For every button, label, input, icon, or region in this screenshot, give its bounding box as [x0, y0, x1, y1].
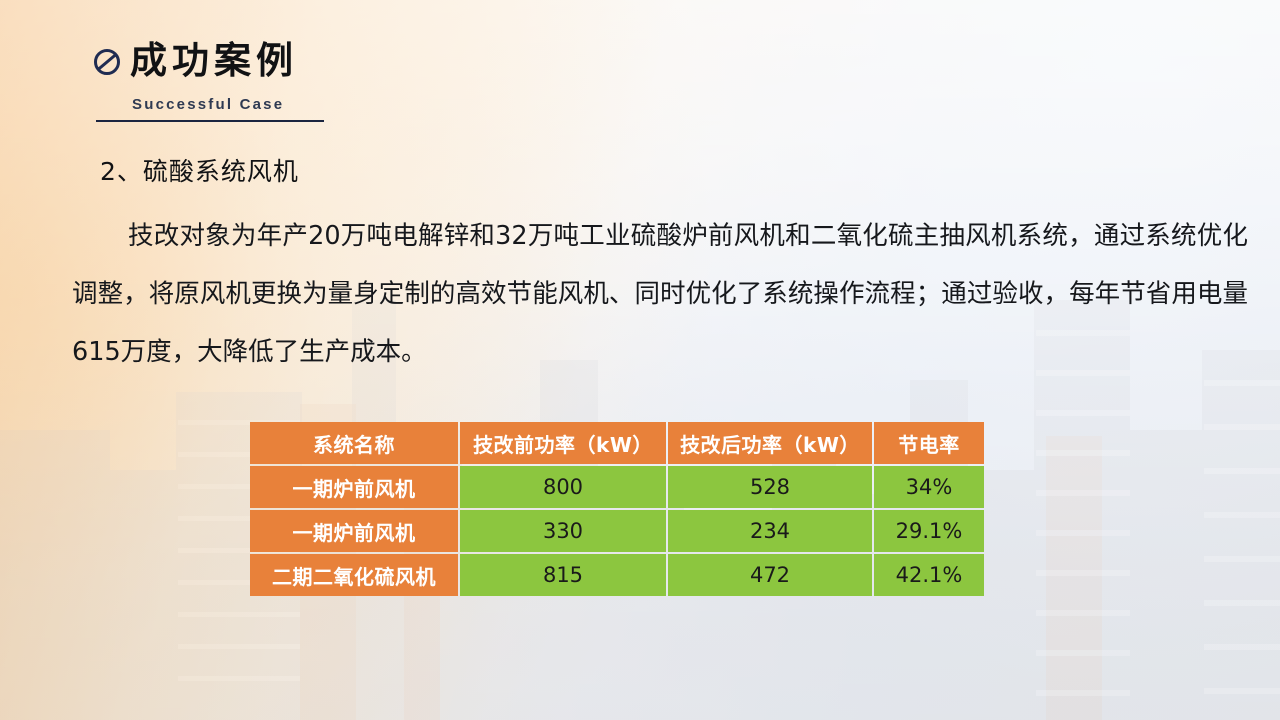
title-divider: [96, 120, 324, 122]
table-body: 一期炉前风机 800 528 34% 一期炉前风机 330 234 29.1% …: [250, 466, 984, 596]
cell-saving-rate: 42.1%: [874, 554, 984, 596]
page-subtitle: Successful Case: [132, 96, 512, 113]
column-header-system-name: 系统名称: [250, 422, 458, 464]
column-header-saving-rate: 节电率: [874, 422, 984, 464]
results-table: 系统名称 技改前功率（kW） 技改后功率（kW） 节电率 一期炉前风机 800 …: [248, 420, 986, 598]
table-header-row: 系统名称 技改前功率（kW） 技改后功率（kW） 节电率: [250, 422, 984, 464]
cell-saving-rate: 34%: [874, 466, 984, 508]
table-row: 一期炉前风机 330 234 29.1%: [250, 510, 984, 552]
cell-power-after: 234: [668, 510, 872, 552]
page-title: 成功案例: [130, 42, 298, 79]
title-row: 成功案例: [92, 34, 512, 86]
cell-power-before: 330: [460, 510, 666, 552]
cell-power-after: 472: [668, 554, 872, 596]
table-row: 二期二氧化硫风机 815 472 42.1%: [250, 554, 984, 596]
cell-system-name: 一期炉前风机: [250, 466, 458, 508]
slide-canvas: 成功案例 Successful Case 2、硫酸系统风机 技改对象为年产20万…: [0, 0, 1280, 720]
table-row: 一期炉前风机 800 528 34%: [250, 466, 984, 508]
slide-header: 成功案例 Successful Case: [92, 34, 512, 122]
cell-system-name: 一期炉前风机: [250, 510, 458, 552]
results-table-wrapper: 系统名称 技改前功率（kW） 技改后功率（kW） 节电率 一期炉前风机 800 …: [248, 420, 976, 598]
cell-power-before: 800: [460, 466, 666, 508]
table-head: 系统名称 技改前功率（kW） 技改后功率（kW） 节电率: [250, 422, 984, 464]
slashed-circle-icon: [92, 47, 122, 77]
cell-system-name: 二期二氧化硫风机: [250, 554, 458, 596]
cell-power-after: 528: [668, 466, 872, 508]
cell-saving-rate: 29.1%: [874, 510, 984, 552]
body-paragraph: 技改对象为年产20万吨电解锌和32万吨工业硫酸炉前风机和二氧化硫主抽风机系统，通…: [72, 207, 1248, 381]
column-header-power-after: 技改后功率（kW）: [668, 422, 872, 464]
section-heading: 2、硫酸系统风机: [100, 152, 299, 188]
column-header-power-before: 技改前功率（kW）: [460, 422, 666, 464]
cell-power-before: 815: [460, 554, 666, 596]
